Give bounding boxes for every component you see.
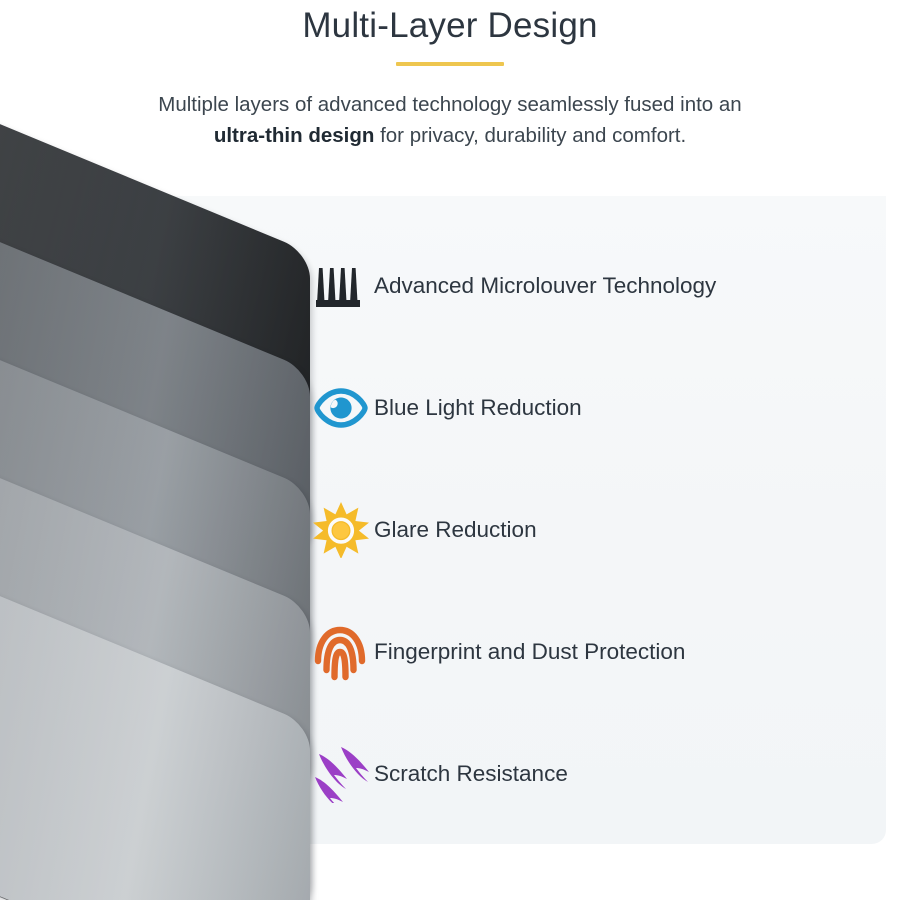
- scratch-icon: [300, 744, 374, 804]
- subtitle-line-1: Multiple layers of advanced technology s…: [158, 93, 741, 116]
- feature-label-fingerprint: Fingerprint and Dust Protection: [374, 638, 685, 666]
- feature-list: Advanced Microlouver Technology Blue Lig…: [300, 252, 880, 862]
- subtitle: Multiple layers of advanced technology s…: [0, 89, 900, 151]
- feature-row-microlouver: Advanced Microlouver Technology: [300, 252, 880, 320]
- feature-label-glare: Glare Reduction: [374, 516, 537, 544]
- feature-label-microlouver: Advanced Microlouver Technology: [374, 272, 716, 300]
- fingerprint-icon: [300, 622, 374, 682]
- feature-label-scratch: Scratch Resistance: [374, 760, 568, 788]
- subtitle-emphasis: ultra-thin design: [214, 124, 375, 147]
- feature-row-scratch: Scratch Resistance: [300, 740, 880, 808]
- page-title: Multi-Layer Design: [0, 0, 900, 48]
- microlouver-icon: [300, 256, 374, 316]
- feature-row-glare: Glare Reduction: [300, 496, 880, 564]
- sun-icon: [300, 500, 374, 560]
- header: Multi-Layer Design Multiple layers of ad…: [0, 0, 900, 151]
- feature-row-blue-light: Blue Light Reduction: [300, 374, 880, 442]
- infographic-canvas: Multi-Layer Design Multiple layers of ad…: [0, 0, 900, 900]
- feature-row-fingerprint: Fingerprint and Dust Protection: [300, 618, 880, 686]
- eye-icon: [300, 378, 374, 438]
- subtitle-line-2: for privacy, durability and comfort.: [374, 124, 686, 147]
- feature-label-blue-light: Blue Light Reduction: [374, 394, 582, 422]
- title-underline-rule: [396, 62, 504, 66]
